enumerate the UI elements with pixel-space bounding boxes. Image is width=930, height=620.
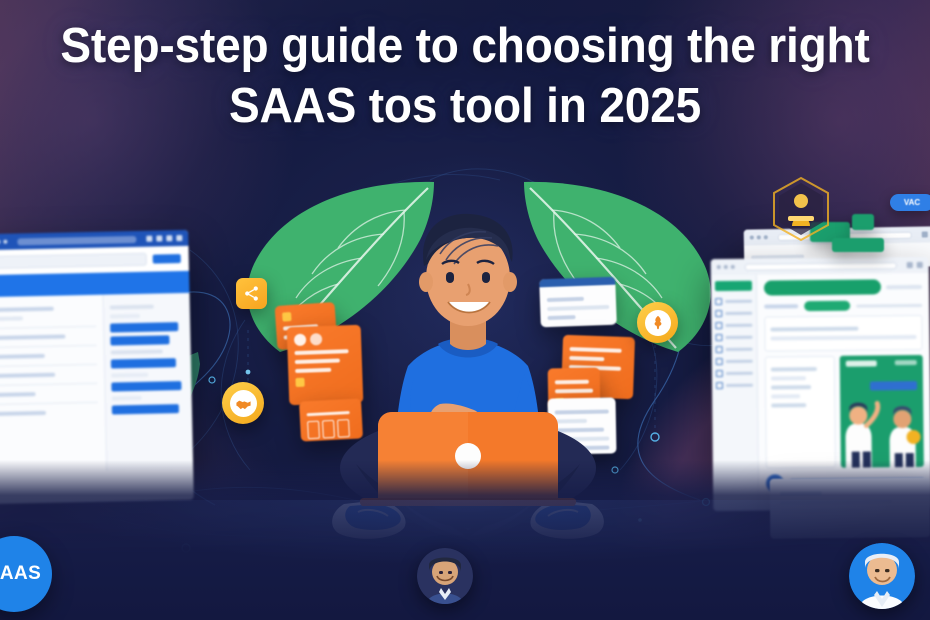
- table-row: [0, 373, 56, 378]
- headline-line-2: SAAS tos tool in 2025: [34, 76, 897, 136]
- list-item: [110, 322, 178, 332]
- banner-title: [764, 279, 881, 295]
- calendar-icon: [715, 334, 722, 341]
- avatar: [294, 334, 306, 346]
- tree-icon: [650, 314, 666, 331]
- hex-portrait: [770, 176, 832, 242]
- table-row: [0, 354, 45, 359]
- eye-left: [446, 272, 454, 283]
- share-nodes-icon: [243, 285, 260, 302]
- headline-line-1: Step-step guide to choosing the right: [34, 16, 897, 76]
- list-item: [110, 335, 169, 345]
- left-window-sidepanel: [103, 293, 193, 471]
- home-icon: [715, 298, 722, 305]
- primary-action-button[interactable]: [153, 254, 181, 264]
- mini-green-card-3[interactable]: [832, 238, 884, 252]
- panel-button[interactable]: [870, 381, 917, 390]
- left-window-body: [0, 293, 193, 473]
- settings-icon: [917, 262, 923, 268]
- address-bar[interactable]: [17, 235, 136, 244]
- sidebar-item: [715, 298, 752, 305]
- cart-icon: [156, 235, 162, 241]
- search-icon: [146, 236, 152, 242]
- list-item: [112, 404, 179, 414]
- menu-icon: [922, 231, 928, 237]
- list-item: [111, 358, 176, 368]
- metrics-card: [764, 315, 922, 352]
- avatar-center[interactable]: [417, 548, 473, 604]
- top-right-pill-label: VAC: [904, 198, 920, 207]
- badge-icon: [295, 378, 304, 387]
- sidebar-item: [715, 322, 752, 329]
- illustration-panel: [839, 355, 924, 468]
- top-right-pill-button[interactable]: VAC: [890, 194, 930, 211]
- sidebar-item: [716, 370, 753, 377]
- menu-icon: [176, 235, 182, 241]
- handshake-icon: [235, 395, 252, 412]
- sidebar-item: [716, 358, 753, 365]
- badge-handshake[interactable]: [222, 382, 264, 424]
- list-item: [111, 381, 182, 391]
- users-icon: [715, 322, 722, 329]
- doc-icon: [716, 358, 723, 365]
- badge-share[interactable]: [236, 278, 267, 309]
- list-card: [765, 356, 836, 469]
- chart-icon: [715, 310, 722, 317]
- search-input[interactable]: [0, 253, 147, 269]
- cta-button[interactable]: [804, 301, 850, 311]
- table-row: [0, 334, 65, 340]
- gear-icon: [716, 382, 723, 389]
- menu-icon: [907, 262, 913, 268]
- avatar-right[interactable]: [849, 543, 915, 609]
- sidebar-item: [715, 310, 752, 317]
- table-row: [0, 392, 35, 397]
- folder-icon: [716, 346, 723, 353]
- page-title: Step-step guide to choosing the right SA…: [0, 16, 930, 136]
- app-logo: [715, 281, 752, 291]
- hero-banner: SAAS VAC Step-step guide to choosing the…: [0, 0, 930, 620]
- left-window-nav-icons[interactable]: [146, 235, 182, 242]
- settings-icon: [166, 235, 172, 241]
- address-bar[interactable]: [745, 262, 897, 271]
- badge-tree[interactable]: [637, 302, 678, 343]
- sidebar-item: [716, 382, 753, 389]
- mini-green-card-2[interactable]: [852, 214, 874, 230]
- bell-icon: [716, 370, 723, 377]
- eye-right: [482, 272, 490, 283]
- saas-badge-label: SAAS: [0, 563, 41, 585]
- badge-icon: [282, 312, 292, 322]
- table-row: [0, 411, 46, 416]
- left-window-table: [0, 295, 107, 473]
- sidebar-item: [715, 334, 752, 341]
- sidebar-item: [716, 346, 753, 353]
